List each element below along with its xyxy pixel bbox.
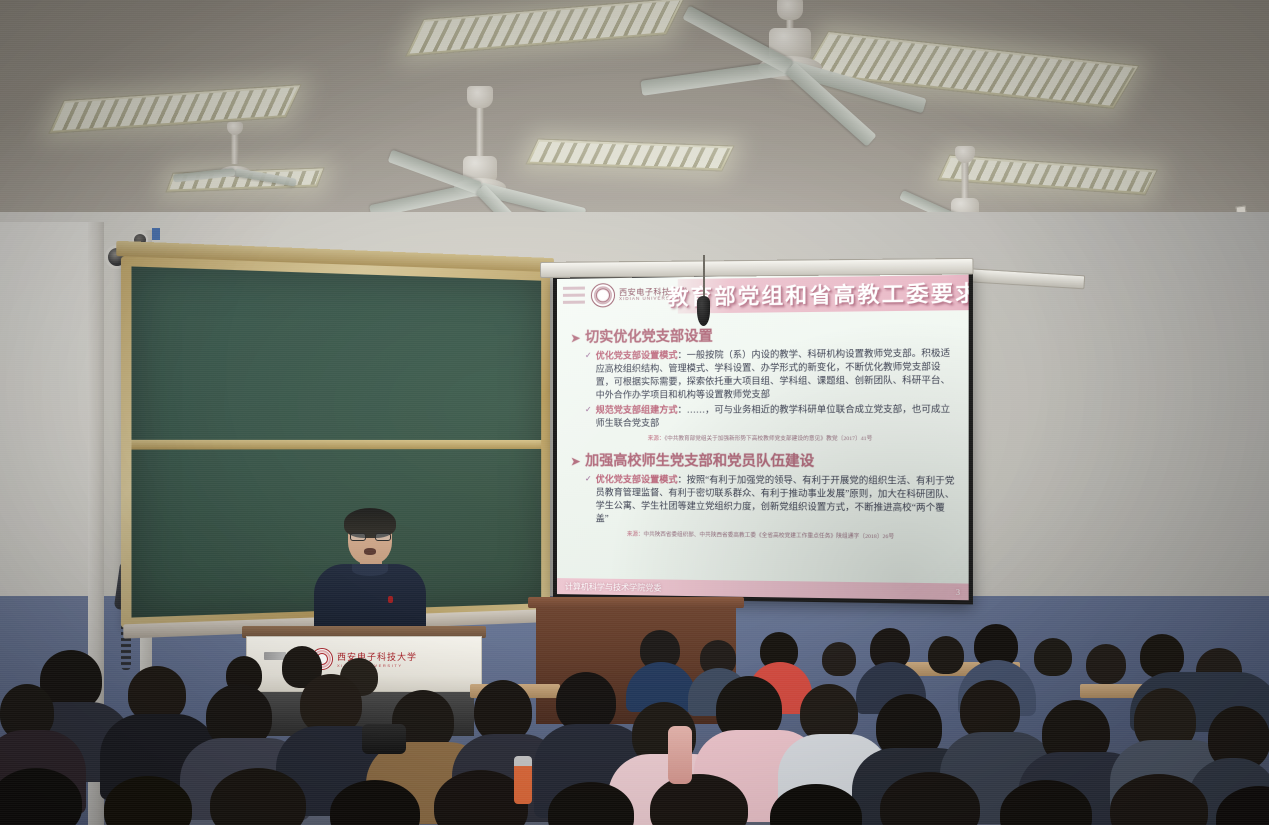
slide-source-note: 来源：《中共教育部党组关于加强新形势下高校教师党支部建设的意见》教党〔2017〕… [567, 434, 958, 442]
slide-page-number: 3 [956, 587, 960, 596]
audience-head [474, 680, 532, 742]
presenter-lapel-pin [388, 596, 393, 603]
slide-bullet: ✓ 优化党支部设置模式：按照“有利于加强党的领导、有利于开展党的组织生活、有利于… [585, 473, 958, 528]
source-label: 来源： [627, 532, 644, 538]
backpack [362, 724, 406, 754]
check-icon: ✓ [585, 473, 592, 525]
audience [0, 618, 1269, 825]
audience-head [300, 674, 362, 734]
slide-section-heading: ➤切实优化党支部设置 [571, 323, 958, 347]
slide-title-band: 教育部党组和省高教工委要求 [678, 275, 969, 314]
screen-pull-string [703, 255, 705, 299]
presenter-glasses-icon [350, 533, 391, 541]
audience-head [928, 636, 964, 674]
audience-head [822, 642, 856, 676]
university-seal-icon [591, 283, 615, 307]
slide-title: 教育部党组和省高教工委要求 [667, 277, 973, 312]
slide-source-note: 来源：中共陕西省委组织部、中共陕西省委高教工委《全省高校党建工作重点任务》陕组通… [567, 530, 958, 542]
check-icon: ✓ [585, 404, 592, 430]
source-text: 中共陕西省委组织部、中共陕西省委高教工委《全省高校党建工作重点任务》陕组通字〔2… [644, 532, 895, 540]
slide-bullet: ✓ 规范党支部组建方式：……，可与业务相近的教学科研单位联合成立党支部，也可成立… [585, 403, 958, 430]
presenter-mouth [364, 548, 376, 555]
slide-header: 西安电子科技大学 XIDIAN UNIVERSITY 教育部党组和省高教工委要求 [557, 273, 969, 319]
water-bottle [514, 756, 532, 804]
projection-screen: 西安电子科技大学 XIDIAN UNIVERSITY 教育部党组和省高教工委要求… [553, 270, 973, 605]
projection-screen-housing [540, 258, 974, 278]
presentation-slide: 西安电子科技大学 XIDIAN UNIVERSITY 教育部党组和省高教工委要求… [557, 273, 969, 601]
chalkboard-divider [131, 440, 541, 450]
lecture-hall-photo: 西安电子科技大学 XIDIAN UNIVERSITY 教育部党组和省高教工委要求… [0, 0, 1269, 825]
bullet-label: 规范党支部组建方式 [596, 405, 678, 415]
side-wall-upper [0, 222, 90, 602]
thermos-bottle [668, 726, 692, 784]
slide-decor-bars [563, 287, 585, 307]
slide-body: ➤切实优化党支部设置 ✓ 优化党支部设置模式：一般按院（系）内设的教学、科研机构… [557, 314, 969, 583]
slide-footer-org: 计算机科学与技术学院党委 [565, 581, 662, 593]
slide-bullet-text: 规范党支部组建方式：……，可与业务相近的教学科研单位联合成立党支部，也可成立师生… [596, 403, 958, 430]
audience-head [960, 680, 1020, 740]
wall-label-sticker [152, 228, 160, 240]
audience-head [1034, 638, 1072, 676]
bullet-arrow-icon: ➤ [571, 333, 580, 345]
bullet-arrow-icon: ➤ [571, 456, 580, 468]
screen-pull-handle [697, 296, 710, 326]
check-icon: ✓ [585, 350, 592, 402]
slide-bullet-text: 优化党支部设置模式：一般按院（系）内设的教学、科研机构设置教师党支部。积极适应高… [596, 347, 958, 402]
source-label: 来源： [648, 436, 665, 442]
source-text: 《中共教育部党组关于加强新形势下高校教师党支部建设的意见》教党〔2017〕41号 [664, 436, 872, 442]
presenter-collar [352, 564, 388, 576]
slide-bullet-text: 优化党支部设置模式：按照“有利于加强党的领导、有利于开展党的组织生活、有利于党员… [596, 473, 958, 528]
audience-head [1086, 644, 1126, 684]
bullet-label: 优化党支部设置模式 [596, 350, 678, 361]
slide-section-heading: ➤加强高校师生党支部和党员队伍建设 [571, 450, 958, 471]
slide-bullet: ✓ 优化党支部设置模式：一般按院（系）内设的教学、科研机构设置教师党支部。积极适… [585, 347, 958, 402]
bullet-label: 优化党支部设置模式 [596, 474, 678, 484]
audience-head [556, 672, 616, 732]
